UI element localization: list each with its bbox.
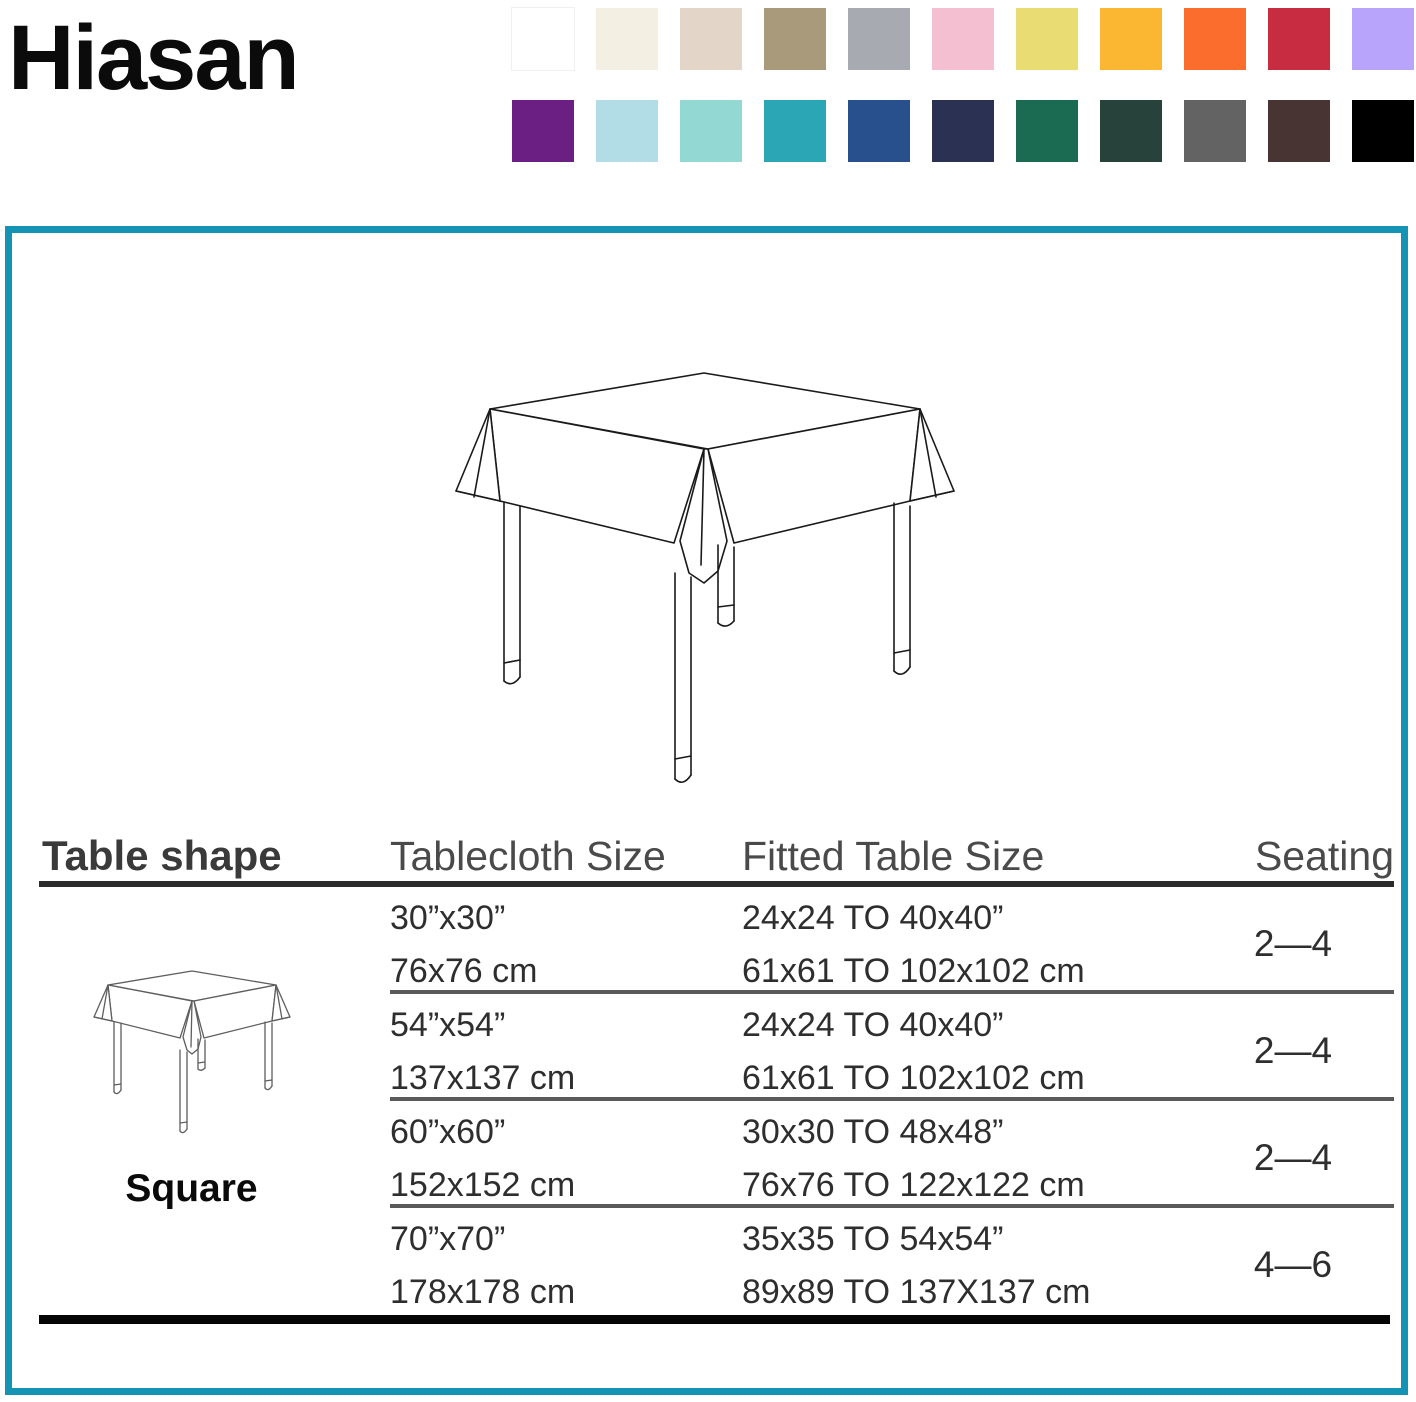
cell-tablecloth-size-cm: 137x137 cm (390, 1061, 575, 1095)
cell-seating: 4—6 (1192, 1244, 1394, 1286)
color-swatch-navy-blue[interactable] (848, 100, 910, 162)
product-size-chart-page: Hiasan (0, 0, 1416, 1402)
color-swatch-charcoal[interactable] (1184, 100, 1246, 162)
color-swatch-aqua[interactable] (680, 100, 742, 162)
column-header-fitted-table-size: Fitted Table Size (742, 836, 1044, 877)
color-swatch-teal[interactable] (764, 100, 826, 162)
color-swatch-panel (512, 8, 1402, 192)
cell-fitted-size-inches: 35x35 TO 54x54” (742, 1222, 1003, 1256)
color-swatch-khaki[interactable] (764, 8, 826, 70)
color-swatch-yellow[interactable] (1016, 8, 1078, 70)
color-swatch-row-1 (512, 8, 1402, 70)
cell-fitted-size-cm: 76x76 TO 122x122 cm (742, 1168, 1085, 1202)
color-swatch-gold[interactable] (1100, 8, 1162, 70)
square-table-with-tablecloth-illustration (442, 351, 972, 791)
cell-tablecloth-size-cm: 152x152 cm (390, 1168, 575, 1202)
cell-fitted-size-cm: 61x61 TO 102x102 cm (742, 1061, 1085, 1095)
column-header-table-shape: Table shape (42, 835, 282, 877)
column-header-seating: Seating (1255, 836, 1394, 877)
color-swatch-purple[interactable] (512, 100, 574, 162)
table-shape-cell: Square (39, 959, 344, 1211)
cell-fitted-size-inches: 24x24 TO 40x40” (742, 901, 1003, 935)
table-shape-label: Square (39, 1167, 344, 1211)
color-swatch-navy[interactable] (932, 100, 994, 162)
color-swatch-ivory[interactable] (596, 8, 658, 70)
square-table-small-icon (84, 959, 300, 1149)
cell-tablecloth-size-cm: 178x178 cm (390, 1275, 575, 1309)
table-bottom-rule (39, 1315, 1390, 1324)
brand-logo: Hiasan (8, 12, 298, 104)
color-swatch-beige[interactable] (680, 8, 742, 70)
color-swatch-white[interactable] (512, 8, 574, 70)
cell-tablecloth-size-inches: 60”x60” (390, 1115, 505, 1149)
cell-tablecloth-size-inches: 54”x54” (390, 1008, 505, 1042)
cell-fitted-size-cm: 61x61 TO 102x102 cm (742, 954, 1085, 988)
color-swatch-emerald[interactable] (1016, 100, 1078, 162)
color-swatch-row-2 (512, 100, 1402, 162)
table-row: 70”x70” 178x178 cm 35x35 TO 54x54” 89x89… (39, 1208, 1394, 1315)
color-swatch-pink[interactable] (932, 8, 994, 70)
color-swatch-gray[interactable] (848, 8, 910, 70)
cell-seating: 2—4 (1192, 923, 1394, 965)
cell-fitted-size-inches: 30x30 TO 48x48” (742, 1115, 1003, 1149)
color-swatch-orange[interactable] (1184, 8, 1246, 70)
cell-seating: 2—4 (1192, 1030, 1394, 1072)
cell-tablecloth-size-inches: 70”x70” (390, 1222, 505, 1256)
cell-fitted-size-cm: 89x89 TO 137X137 cm (742, 1275, 1090, 1309)
color-swatch-light-blue[interactable] (596, 100, 658, 162)
color-swatch-black[interactable] (1352, 100, 1414, 162)
cell-fitted-size-inches: 24x24 TO 40x40” (742, 1008, 1003, 1042)
color-swatch-red[interactable] (1268, 8, 1330, 70)
color-swatch-lavender[interactable] (1352, 8, 1414, 70)
cell-seating: 2—4 (1192, 1137, 1394, 1179)
color-swatch-brown[interactable] (1268, 100, 1330, 162)
cell-tablecloth-size-inches: 30”x30” (390, 901, 505, 935)
cell-tablecloth-size-cm: 76x76 cm (390, 954, 537, 988)
color-swatch-dark-green[interactable] (1100, 100, 1162, 162)
column-header-tablecloth-size: Tablecloth Size (390, 836, 666, 877)
table-header-row: Table shape Tablecloth Size Fitted Table… (39, 811, 1394, 877)
content-frame: Table shape Tablecloth Size Fitted Table… (5, 226, 1408, 1395)
